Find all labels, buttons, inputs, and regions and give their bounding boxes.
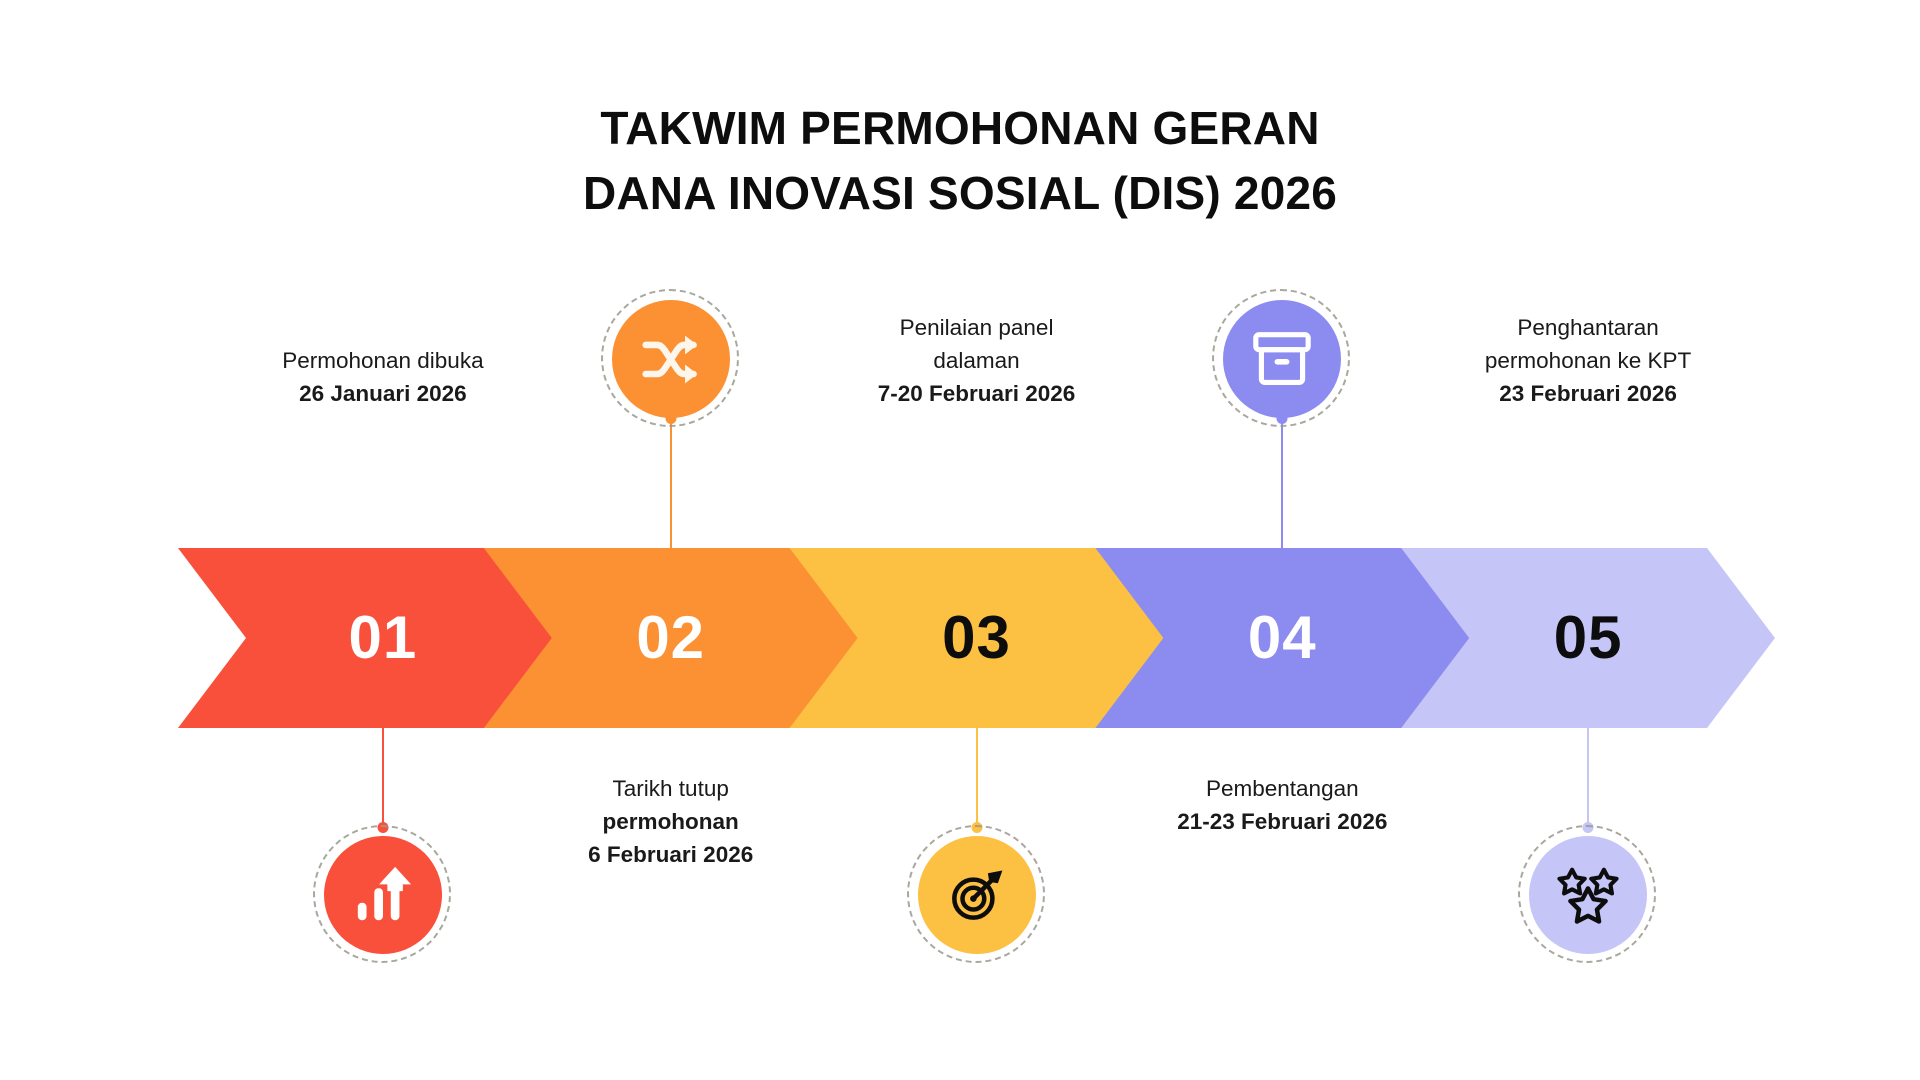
caption-line: 7-20 Februari 2026 bbox=[767, 377, 1187, 410]
step-number-01: 01 bbox=[349, 608, 418, 668]
page-title: TAKWIM PERMOHONAN GERAN DANA INOVASI SOS… bbox=[0, 96, 1920, 227]
step-number-04: 04 bbox=[1248, 608, 1317, 668]
caption-line: 23 Februari 2026 bbox=[1378, 377, 1798, 410]
caption-line: Tarikh tutup bbox=[461, 772, 881, 805]
infographic-canvas: TAKWIM PERMOHONAN GERAN DANA INOVASI SOS… bbox=[0, 0, 1920, 1080]
caption-line: Penilaian panel bbox=[767, 311, 1187, 344]
shuffle-icon bbox=[641, 329, 701, 389]
archive-box-icon bbox=[1252, 330, 1312, 388]
step-number-03: 03 bbox=[942, 608, 1011, 668]
step-caption-04: Pembentangan21-23 Februari 2026 bbox=[1072, 772, 1492, 838]
connector-stem-step-03 bbox=[976, 728, 978, 828]
connector-stem-step-02 bbox=[670, 418, 672, 548]
step-caption-05: Penghantaranpermohonan ke KPT23 Februari… bbox=[1378, 311, 1798, 410]
step-caption-02: Tarikh tutuppermohonan6 Februari 2026 bbox=[461, 772, 881, 871]
step-number-02: 02 bbox=[636, 608, 705, 668]
title-line-2: DANA INOVASI SOSIAL (DIS) 2026 bbox=[0, 161, 1920, 226]
caption-line: dalaman bbox=[767, 344, 1187, 377]
step-number-05: 05 bbox=[1554, 608, 1623, 668]
icon-badge-archive-box-icon[interactable] bbox=[1223, 300, 1341, 418]
step-caption-03: Penilaian paneldalaman7-20 Februari 2026 bbox=[767, 311, 1187, 410]
target-dartboard-icon bbox=[948, 866, 1006, 924]
caption-line: 6 Februari 2026 bbox=[461, 838, 881, 871]
three-stars-icon bbox=[1557, 866, 1619, 924]
connector-stem-step-04 bbox=[1281, 418, 1283, 548]
icon-badge-shuffle-icon[interactable] bbox=[612, 300, 730, 418]
caption-line: permohonan ke KPT bbox=[1378, 344, 1798, 377]
title-line-1: TAKWIM PERMOHONAN GERAN bbox=[600, 102, 1319, 154]
icon-badge-target-dartboard-icon[interactable] bbox=[918, 836, 1036, 954]
growth-chart-arrow-icon bbox=[352, 864, 414, 926]
connector-stem-step-01 bbox=[382, 728, 384, 828]
timeline-arrow-band: 0504030201 bbox=[0, 548, 1920, 728]
icon-badge-growth-chart-arrow-icon[interactable] bbox=[324, 836, 442, 954]
caption-line: 21-23 Februari 2026 bbox=[1072, 805, 1492, 838]
caption-line: permohonan bbox=[461, 805, 881, 838]
caption-line: 26 Januari 2026 bbox=[173, 377, 593, 410]
step-caption-01: Permohonan dibuka26 Januari 2026 bbox=[173, 344, 593, 410]
icon-badge-three-stars-icon[interactable] bbox=[1529, 836, 1647, 954]
timeline-arrow-step-01[interactable]: 01 bbox=[178, 548, 552, 728]
caption-line: Penghantaran bbox=[1378, 311, 1798, 344]
connector-stem-step-05 bbox=[1587, 728, 1589, 828]
caption-line: Pembentangan bbox=[1072, 772, 1492, 805]
caption-line: Permohonan dibuka bbox=[173, 344, 593, 377]
